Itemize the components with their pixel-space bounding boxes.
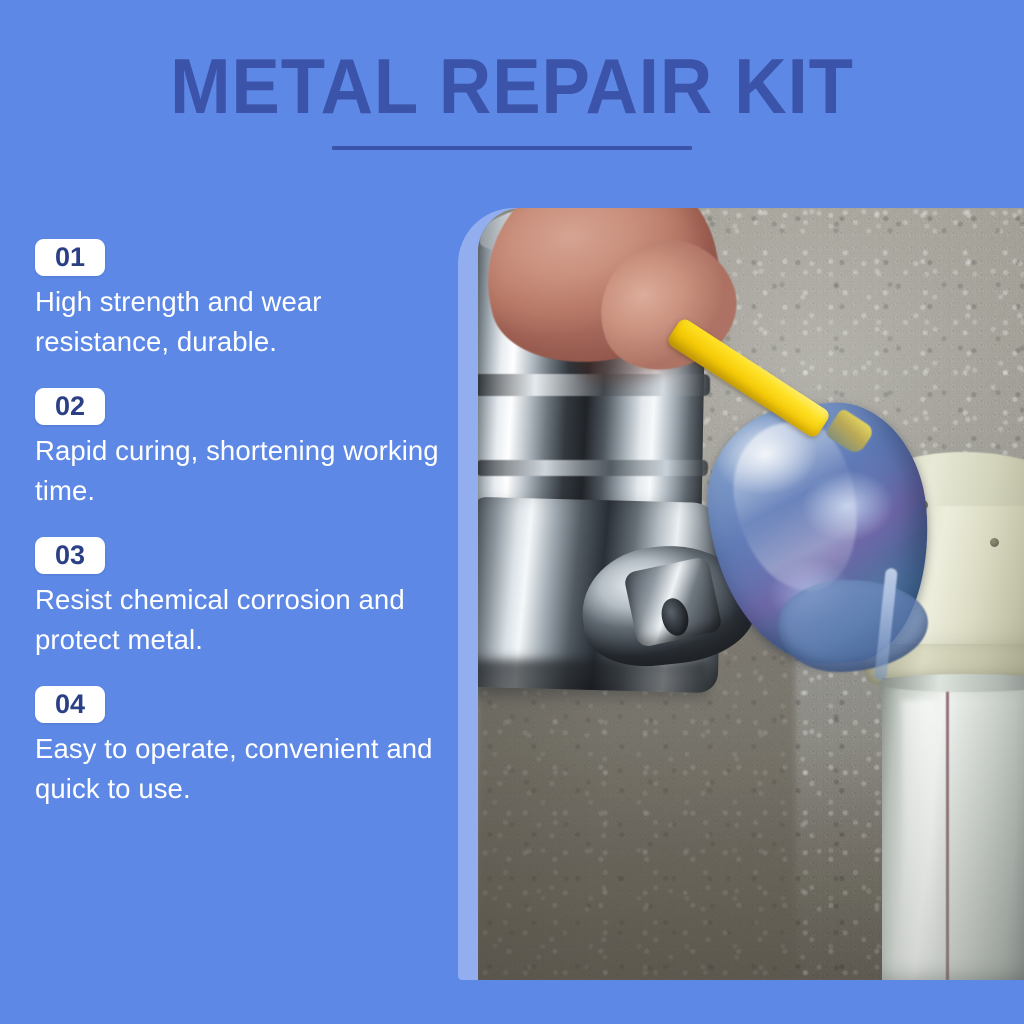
faucet-base-shadow: [478, 660, 708, 700]
feature-description: Easy to operate, convenient and quick to…: [35, 729, 450, 809]
product-photo: [478, 208, 1024, 980]
product-photo-frame: [458, 208, 1024, 980]
list-item: 03 Resist chemical corrosion and protect…: [35, 537, 455, 660]
chrome-faucet-ring-lower: [478, 460, 708, 476]
elbow-surface-mark: [990, 538, 999, 547]
feature-number-badge: 04: [35, 686, 105, 723]
pipe-highlight: [902, 700, 936, 964]
list-item: 04 Easy to operate, convenient and quick…: [35, 686, 455, 809]
feature-number-badge: 01: [35, 239, 105, 276]
feature-description: Rapid curing, shortening working time.: [35, 431, 450, 511]
list-item: 02 Rapid curing, shortening working time…: [35, 388, 455, 511]
product-infographic-poster: METAL REPAIR KIT 01 High strength and we…: [0, 0, 1024, 1024]
page-title: METAL REPAIR KIT: [36, 44, 988, 128]
title-block: METAL REPAIR KIT: [0, 44, 1024, 150]
feature-description: Resist chemical corrosion and protect me…: [35, 580, 450, 660]
feature-number-badge: 03: [35, 537, 105, 574]
list-item: 01 High strength and wear resistance, du…: [35, 239, 455, 362]
photo-scene: [478, 208, 1024, 980]
feature-number-badge: 02: [35, 388, 105, 425]
title-underline-divider: [332, 146, 692, 150]
pipe-seam-line: [946, 684, 949, 980]
feature-list: 01 High strength and wear resistance, du…: [35, 239, 455, 809]
feature-description: High strength and wear resistance, durab…: [35, 282, 450, 362]
